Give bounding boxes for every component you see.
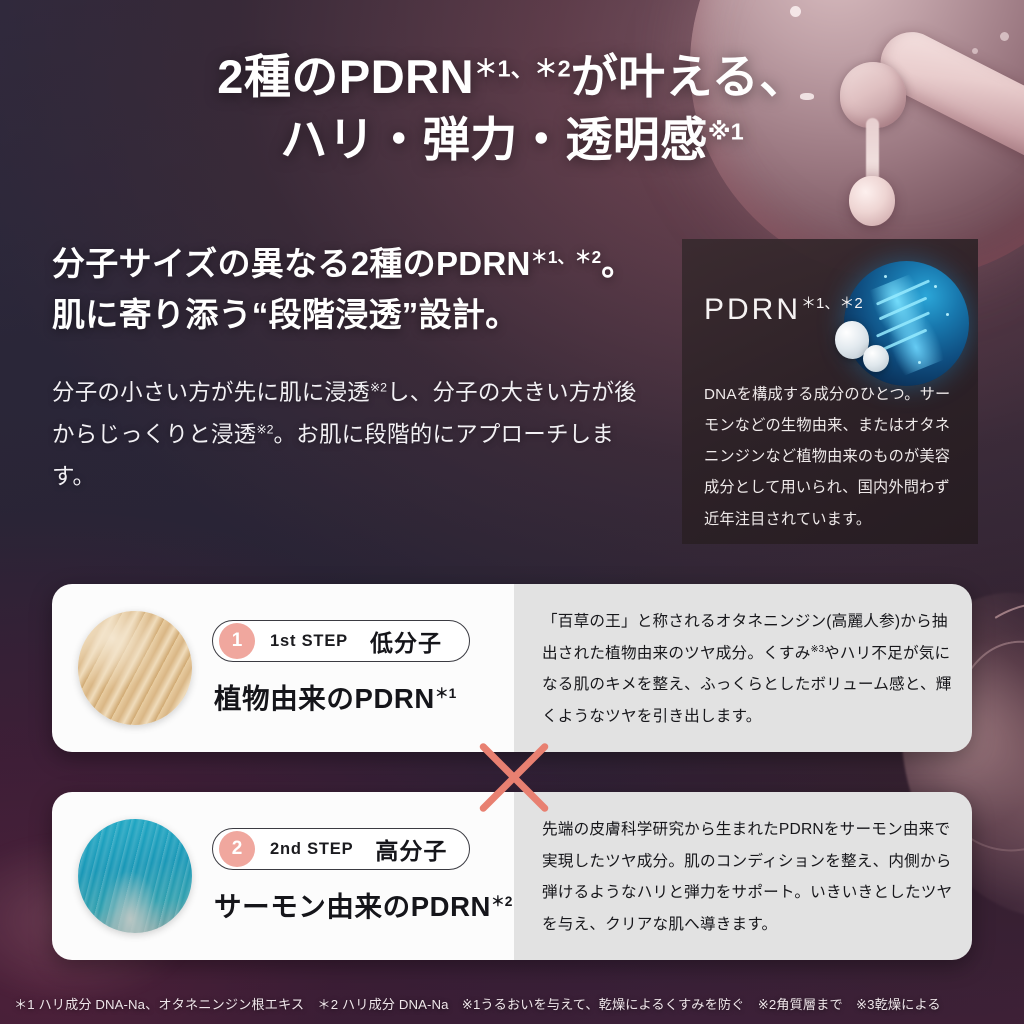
dna-dot <box>934 285 937 288</box>
step-card-2-left: 2 2nd STEP 高分子 サーモン由来のPDRN＊2 <box>52 792 514 960</box>
lead-line1: 分子サイズの異なる2種のPDRN＊1、＊2。 <box>52 245 635 282</box>
step-card-1-right: 「百草の王」と称されるオタネニンジン(高麗人参)から抽出された植物由来のツヤ成分… <box>514 584 972 752</box>
headline-footnote-mark: ※1 <box>708 118 744 144</box>
step-desc-footnote-mark: ※3 <box>811 643 824 654</box>
bubble-icon <box>790 6 801 17</box>
step-1-badge-pill: 1 1st STEP 低分子 <box>212 620 470 662</box>
lead-line2: 肌に寄り添う“段階浸透”設計。 <box>52 296 519 333</box>
step-2-badge-pill: 2 2nd STEP 高分子 <box>212 828 470 870</box>
body-footnote-mark: ※2 <box>370 381 387 395</box>
body-footnote-mark: ※2 <box>256 422 273 436</box>
step-1-heading: 植物由来のPDRN＊1 <box>214 676 456 716</box>
headline-line2: ハリ・弾力・透明感※1 <box>0 109 1024 172</box>
step-number-badge: 1 <box>219 623 255 659</box>
lead-text: 分子サイズの異なる2種のPDRN＊1、＊2。 肌に寄り添う“段階浸透”設計。 <box>52 238 672 340</box>
step-label: 1st STEP <box>270 632 348 651</box>
headline-line1: 2種のPDRN＊1、＊2が叶える、 <box>217 50 807 103</box>
body-paragraph: 分子の小さい方が先に肌に浸透※2し、分子の大きい方が後からじっくりと浸透※2。お… <box>52 372 652 498</box>
headline-footnote-mark: ＊1、＊2 <box>474 55 571 81</box>
pdrn-card-title: PDRN＊1、＊2 <box>704 292 863 327</box>
step-1-description: 「百草の王」と称されるオタネニンジン(高麗人参)から抽出された植物由来のツヤ成分… <box>542 606 956 733</box>
infographic-root: 2種のPDRN＊1、＊2が叶える、 ハリ・弾力・透明感※1 分子サイズの異なる2… <box>0 0 1024 1024</box>
pdrn-card-body: DNAを構成する成分のひとつ。サーモンなどの生物由来、またはオタネニンジンなど植… <box>704 379 962 535</box>
step-2-heading: サーモン由来のPDRN＊2 <box>214 884 512 924</box>
step-number-badge: 2 <box>219 831 255 867</box>
dna-dot <box>884 275 887 278</box>
step-2-description: 先端の皮膚科学研究から生まれたPDRNをサーモン由来で実現したツヤ成分。肌のコン… <box>542 814 956 941</box>
serum-droplet <box>849 176 895 226</box>
pdrn-info-card: PDRN＊1、＊2 DNAを構成する成分のひとつ。サーモンなどの生物由来、または… <box>682 239 978 544</box>
step-footnote-mark: ＊2 <box>491 894 512 909</box>
lead-footnote-mark: ＊1、＊2 <box>531 247 602 267</box>
step-footnote-mark: ＊1 <box>435 686 456 701</box>
step-card-1: 1 1st STEP 低分子 植物由来のPDRN＊1 「百草の王」と称されるオタ… <box>52 584 972 752</box>
molecule-label: 低分子 <box>370 624 442 658</box>
pdrn-footnote-mark: ＊1、＊2 <box>801 295 863 312</box>
cross-mark-icon <box>471 733 557 819</box>
water-droplet-icon <box>863 345 889 372</box>
step-label: 2nd STEP <box>270 840 353 859</box>
dna-dot <box>918 361 921 364</box>
ocean-salmon-image <box>78 819 192 933</box>
dna-sphere-icon <box>844 261 969 386</box>
dna-dot <box>946 313 949 316</box>
ginseng-root-image <box>78 611 192 725</box>
page-title: 2種のPDRN＊1、＊2が叶える、 ハリ・弾力・透明感※1 <box>0 46 1024 172</box>
step-card-1-left: 1 1st STEP 低分子 植物由来のPDRN＊1 <box>52 584 514 752</box>
step-card-2-right: 先端の皮膚科学研究から生まれたPDRNをサーモン由来で実現したツヤ成分。肌のコン… <box>514 792 972 960</box>
molecule-label: 高分子 <box>375 832 447 866</box>
bubble-icon <box>1000 32 1009 41</box>
footnote-text: ＊1 ハリ成分 DNA-Na、オタネニンジン根エキス ＊2 ハリ成分 DNA-N… <box>14 994 941 1013</box>
